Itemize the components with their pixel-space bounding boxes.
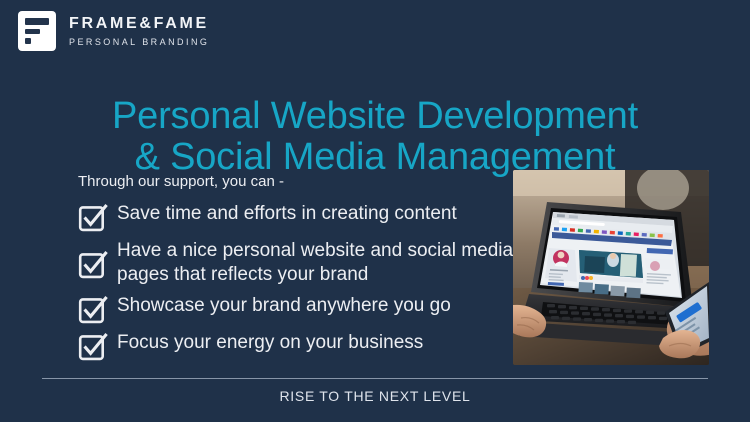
benefits-list: Save time and efforts in creating conten… <box>78 201 518 362</box>
list-item: Focus your energy on your business <box>78 330 518 362</box>
mark-bar-top <box>25 18 49 25</box>
mark-dot <box>25 38 31 44</box>
benefits-section: Through our support, you can - Save time… <box>78 173 518 362</box>
checkbox-checked-icon <box>78 295 108 325</box>
checkbox-checked-icon <box>78 250 108 280</box>
list-item: Have a nice personal website and social … <box>78 238 518 288</box>
brand-text-block: FRAME&FAME PERSONAL BRANDING <box>69 15 209 47</box>
list-item: Showcase your brand anywhere you go <box>78 293 518 325</box>
page-title-line-1: Personal Website Development <box>28 96 722 137</box>
list-item: Save time and efforts in creating conten… <box>78 201 518 233</box>
list-item-label: Showcase your brand anywhere you go <box>117 293 451 318</box>
laptop-social-media-photo <box>513 170 709 365</box>
page-title: Personal Website Development & Social Me… <box>0 96 750 177</box>
brand-name: FRAME&FAME <box>69 15 209 33</box>
footer-tagline: RISE TO THE NEXT LEVEL <box>0 388 750 404</box>
document-lines-icon <box>18 11 56 51</box>
lead-in-text: Through our support, you can - <box>78 173 518 191</box>
brand-logo: FRAME&FAME PERSONAL BRANDING <box>18 11 209 51</box>
mark-bar-middle <box>25 29 40 34</box>
list-item-label: Focus your energy on your business <box>117 330 423 355</box>
checkbox-checked-icon <box>78 332 108 362</box>
footer-divider <box>42 378 708 379</box>
marketing-slide: FRAME&FAME PERSONAL BRANDING Personal We… <box>0 0 750 422</box>
list-item-label: Have a nice personal website and social … <box>117 238 518 288</box>
checkbox-checked-icon <box>78 203 108 233</box>
brand-tagline: PERSONAL BRANDING <box>69 38 209 47</box>
list-item-label: Save time and efforts in creating conten… <box>117 201 457 226</box>
